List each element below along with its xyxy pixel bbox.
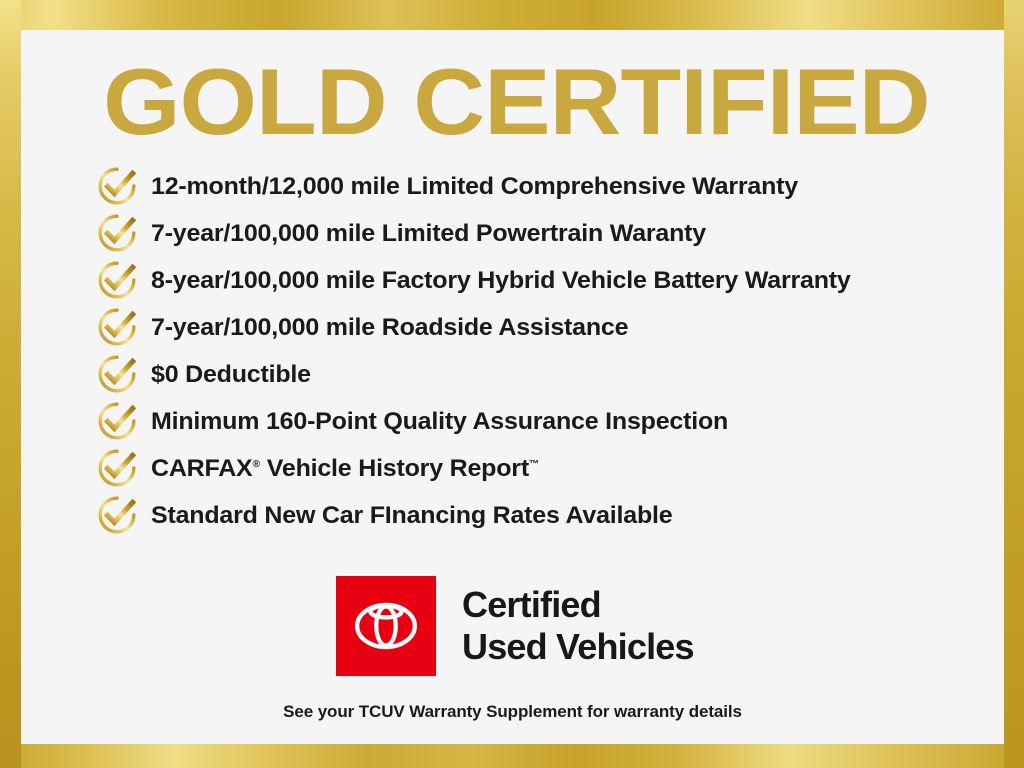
list-item: 7-year/100,000 mile Roadside Assistance [95, 304, 995, 351]
logo-wordmark: Certified Used Vehicles [462, 584, 694, 668]
toyota-emblem-icon [336, 576, 436, 676]
list-item: 8-year/100,000 mile Factory Hybrid Vehic… [95, 257, 995, 304]
gold-check-circle-icon [95, 211, 139, 255]
trademark-mark-icon: ™ [529, 458, 539, 469]
footer-disclaimer: See your TCUV Warranty Supplement for wa… [21, 702, 1004, 722]
list-item-label: 8-year/100,000 mile Factory Hybrid Vehic… [151, 267, 851, 295]
carfax-rest: Vehicle History Report [260, 455, 529, 482]
list-item-label: 7-year/100,000 mile Limited Powertrain W… [151, 220, 706, 248]
list-item-label: 12-month/12,000 mile Limited Comprehensi… [151, 173, 798, 201]
gold-check-circle-icon [95, 352, 139, 396]
list-item-label: 7-year/100,000 mile Roadside Assistance [151, 314, 628, 342]
toyota-certified-used-vehicles-logo: Certified Used Vehicles [336, 576, 694, 676]
gold-check-circle-icon [95, 493, 139, 537]
gold-check-circle-icon [95, 164, 139, 208]
content-card: GOLD CERTIFIED [21, 30, 1004, 744]
list-item: 7-year/100,000 mile Limited Powertrain W… [95, 210, 995, 257]
gold-check-circle-icon [95, 258, 139, 302]
logo-line-2: Used Vehicles [462, 626, 694, 668]
gold-check-circle-icon [95, 399, 139, 443]
frame-border-right [1004, 0, 1024, 768]
frame-border-top [0, 0, 1024, 30]
gold-check-circle-icon [95, 446, 139, 490]
list-item: $0 Deductible [95, 351, 995, 398]
gold-check-circle-icon [95, 305, 139, 349]
list-item-label-carfax: CARFAX® Vehicle History Report™ [151, 455, 539, 483]
logo-line-1: Certified [462, 584, 694, 626]
list-item: Minimum 160-Point Quality Assurance Insp… [95, 398, 995, 445]
page-title: GOLD CERTIFIED [103, 52, 972, 152]
list-item: CARFAX® Vehicle History Report™ [95, 445, 995, 492]
frame-border-left [0, 0, 21, 768]
carfax-brand: CARFAX [151, 455, 253, 482]
registered-mark-icon: ® [253, 458, 261, 469]
list-item-label: $0 Deductible [151, 361, 311, 389]
frame-border-bottom [0, 744, 1024, 768]
list-item-label: Minimum 160-Point Quality Assurance Insp… [151, 408, 728, 436]
gold-certified-banner: GOLD CERTIFIED [0, 0, 1024, 768]
list-item: Standard New Car FInancing Rates Availab… [95, 492, 995, 539]
list-item: 12-month/12,000 mile Limited Comprehensi… [95, 163, 995, 210]
feature-list: 12-month/12,000 mile Limited Comprehensi… [95, 163, 995, 539]
list-item-label: Standard New Car FInancing Rates Availab… [151, 502, 672, 530]
